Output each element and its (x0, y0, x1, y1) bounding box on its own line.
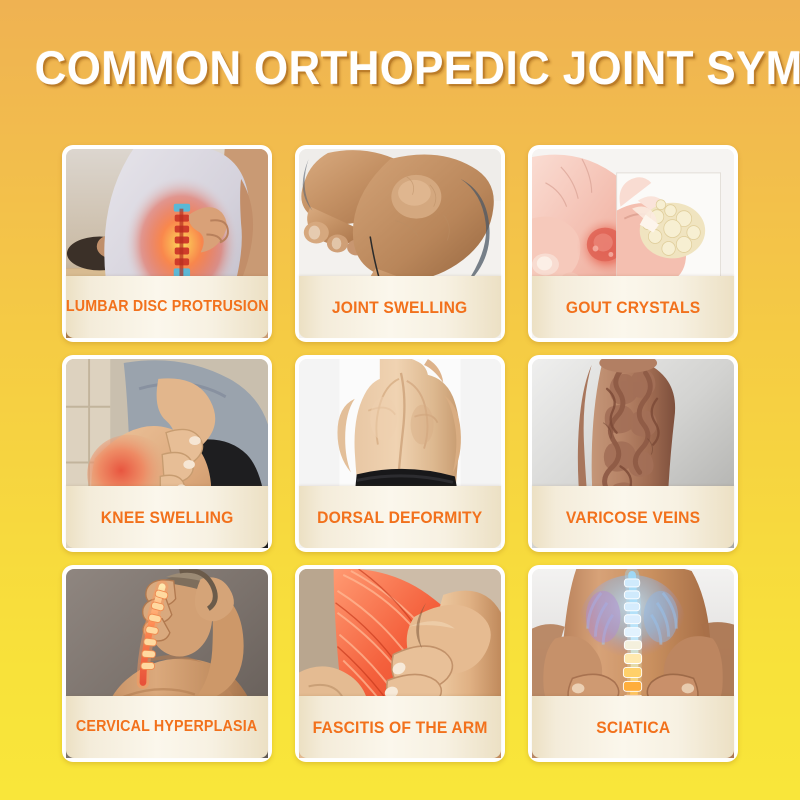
card-label-text: GOUT CRYSTALS (566, 299, 700, 316)
page-title: COMMON ORTHOPEDIC JOINT SYMPTOMS (35, 44, 800, 91)
card-joint-swelling[interactable]: JOINT SWELLING (295, 145, 505, 342)
card-label-text: KNEE SWELLING (101, 509, 234, 526)
label-gout-crystals: GOUT CRYSTALS (532, 276, 734, 338)
card-label-text: CERVICAL HYPERPLASIA (76, 719, 257, 735)
label-sciatica: SCIATICA (532, 696, 734, 758)
label-lumbar-disc-protrusion: LUMBAR DISC PROTRUSION (66, 276, 268, 338)
card-lumbar-disc-protrusion[interactable]: LUMBAR DISC PROTRUSION (62, 145, 272, 342)
card-label-text: JOINT SWELLING (332, 299, 468, 316)
card-dorsal-deformity[interactable]: DORSAL DEFORMITY (295, 355, 505, 552)
card-knee-swelling[interactable]: KNEE SWELLING (62, 355, 272, 552)
label-varicose-veins: VARICOSE VEINS (532, 486, 734, 548)
card-label-text: FASCITIS OF THE ARM (313, 719, 488, 736)
label-dorsal-deformity: DORSAL DEFORMITY (299, 486, 501, 548)
symptom-card-grid: LUMBAR DISC PROTRUSION (62, 145, 738, 762)
card-gout-crystals[interactable]: GOUT CRYSTALS (528, 145, 738, 342)
card-sciatica[interactable]: SCIATICA (528, 565, 738, 762)
card-fascitis-of-the-arm[interactable]: FASCITIS OF THE ARM (295, 565, 505, 762)
card-label-text: SCIATICA (596, 719, 670, 736)
card-label-text: VARICOSE VEINS (566, 509, 700, 526)
label-fascitis-of-the-arm: FASCITIS OF THE ARM (299, 696, 501, 758)
card-label-text: DORSAL DEFORMITY (317, 509, 482, 526)
card-cervical-hyperplasia[interactable]: CERVICAL HYPERPLASIA (62, 565, 272, 762)
label-joint-swelling: JOINT SWELLING (299, 276, 501, 338)
card-label-text: LUMBAR DISC PROTRUSION (66, 299, 269, 315)
label-cervical-hyperplasia: CERVICAL HYPERPLASIA (66, 696, 268, 758)
poster-header: COMMON ORTHOPEDIC JOINT SYMPTOMS (0, 0, 800, 104)
label-knee-swelling: KNEE SWELLING (66, 486, 268, 548)
card-varicose-veins[interactable]: VARICOSE VEINS (528, 355, 738, 552)
